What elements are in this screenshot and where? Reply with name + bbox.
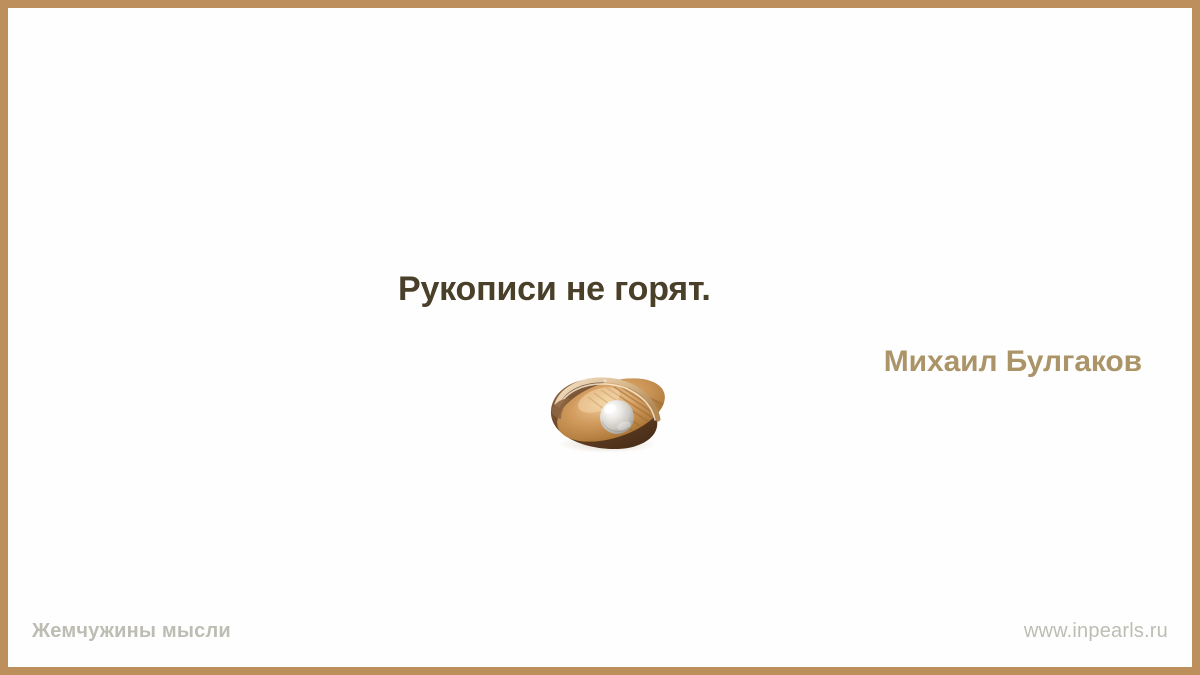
quote-author: Михаил Булгаков <box>884 344 1142 380</box>
site-url[interactable]: www.inpearls.ru <box>1024 620 1168 643</box>
site-name: Жемчужины мысли <box>32 620 231 643</box>
quote-card: Рукописи не горят. Михаил Булгаков <box>0 0 1200 675</box>
oyster-shell-with-pearl-icon <box>541 374 675 452</box>
quote-text: Рукописи не горят. <box>398 270 1158 309</box>
